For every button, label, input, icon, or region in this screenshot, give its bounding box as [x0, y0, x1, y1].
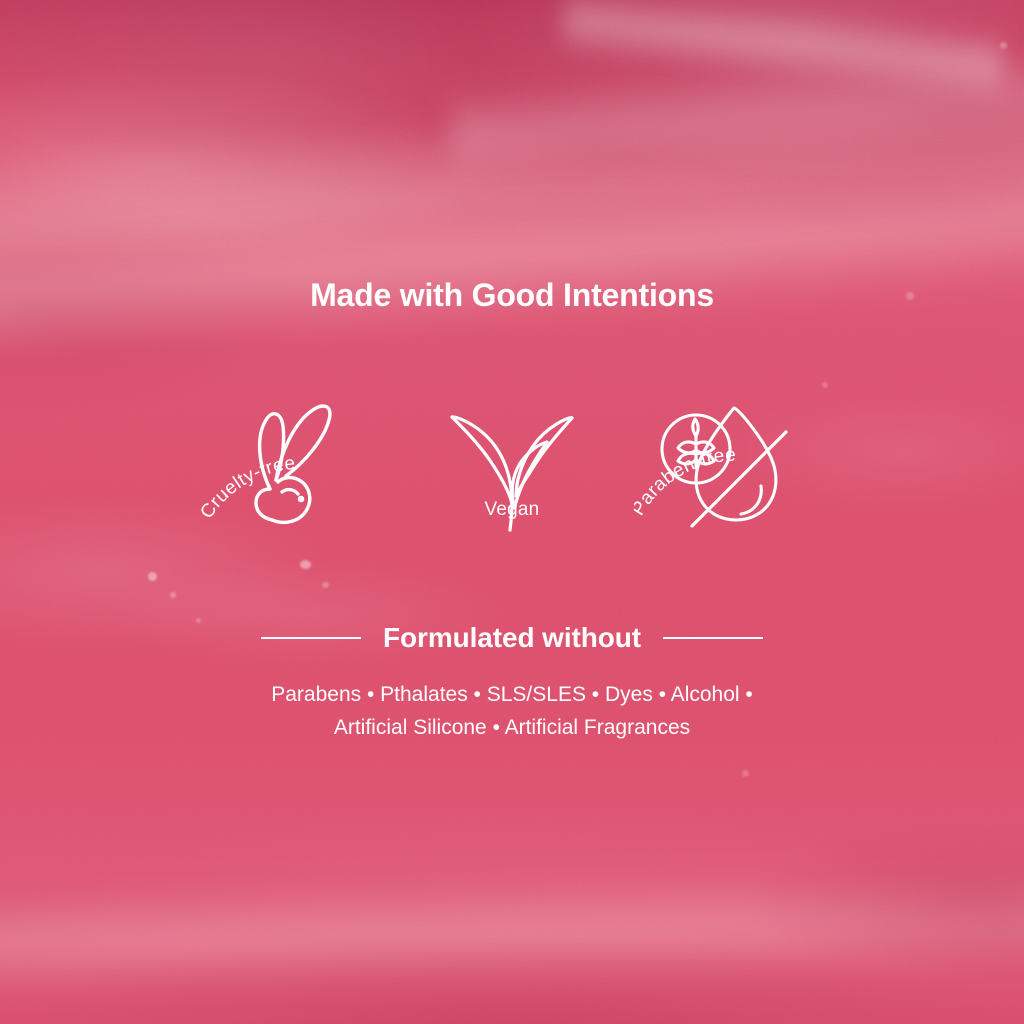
badge-label-paraben-free: Paraben-free [634, 372, 824, 562]
excluded-ingredients-list: Parabens • Pthalates • SLS/SLES • Dyes •… [162, 678, 862, 744]
formulated-without-title: Formulated without [383, 622, 641, 654]
divider-line-left [261, 637, 361, 639]
badge-row: Cruelty-free [200, 372, 824, 562]
excluded-ingredients-line: Artificial Silicone • Artificial Fragran… [162, 711, 862, 744]
svg-text:Cruelty-free: Cruelty-free [200, 453, 296, 523]
formulated-without-heading: Formulated without [0, 622, 1024, 654]
divider-line-right [663, 637, 763, 639]
badge-vegan: Vegan [417, 372, 607, 562]
badge-label-cruelty-free: Cruelty-free [200, 372, 390, 562]
badge-cruelty-free: Cruelty-free [200, 372, 390, 562]
claims-content: Made with Good Intentions [0, 0, 1024, 1024]
product-claims-panel: Made with Good Intentions [0, 0, 1024, 1024]
badge-label-text: Paraben-free [634, 445, 737, 520]
badge-paraben-free: Paraben-free [634, 372, 824, 562]
page-title: Made with Good Intentions [0, 278, 1024, 313]
excluded-ingredients-line: Parabens • Pthalates • SLS/SLES • Dyes •… [162, 678, 862, 711]
badge-label-vegan: Vegan [417, 499, 607, 521]
svg-text:Paraben-free: Paraben-free [634, 445, 737, 520]
badge-label-text: Cruelty-free [200, 453, 296, 523]
sprout-icon [417, 372, 607, 562]
